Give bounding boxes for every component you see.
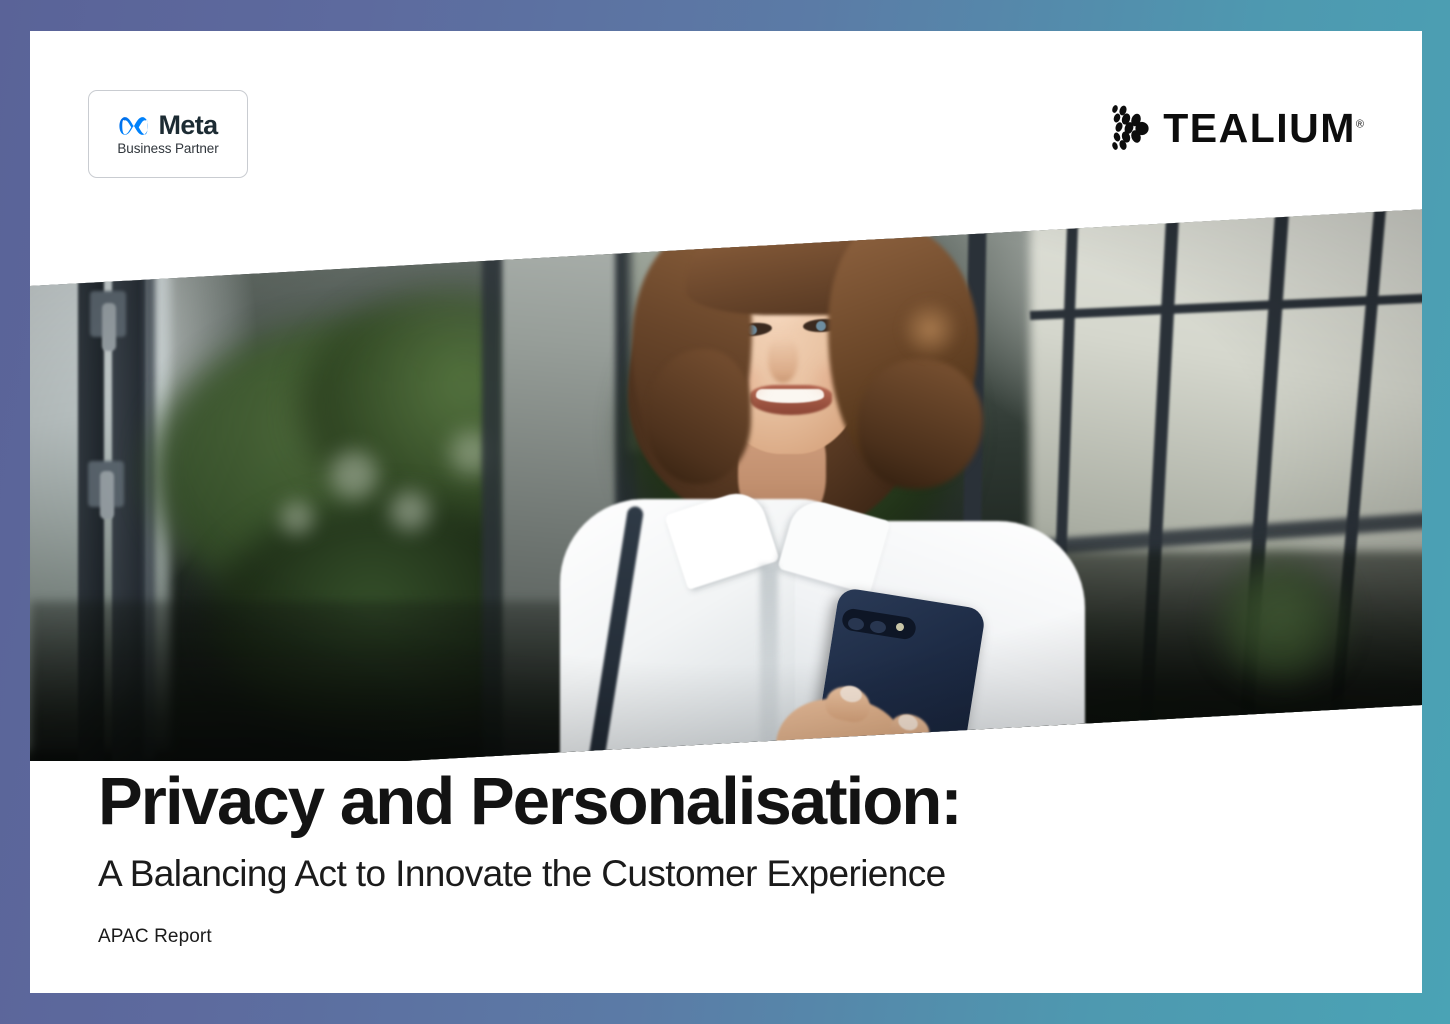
tealium-wordmark: TEALIUM® [1163, 108, 1364, 149]
page-title: Privacy and Personalisation: [98, 766, 961, 837]
meta-infinity-icon [118, 115, 152, 137]
meta-logo-row: Meta [118, 112, 217, 139]
meta-business-partner-badge: Meta Business Partner [88, 90, 248, 178]
registered-trademark-icon: ® [1356, 118, 1364, 130]
page-subtitle: A Balancing Act to Innovate the Customer… [98, 854, 946, 895]
tealium-dots-icon [1108, 103, 1154, 153]
tealium-wordmark-text: TEALIUM [1163, 105, 1356, 151]
photo-vignette [30, 171, 1422, 761]
hero-photo [30, 171, 1422, 761]
page-header: Meta Business Partner [30, 31, 1422, 231]
meta-brand-label: Meta [158, 112, 217, 139]
meta-tagline-label: Business Partner [117, 142, 218, 156]
cover-page: Meta Business Partner [0, 0, 1450, 1024]
document-card: Meta Business Partner [30, 31, 1422, 993]
report-label: APAC Report [98, 927, 212, 948]
hero-image-band [30, 171, 1422, 761]
tealium-logo: TEALIUM® [1108, 103, 1364, 153]
